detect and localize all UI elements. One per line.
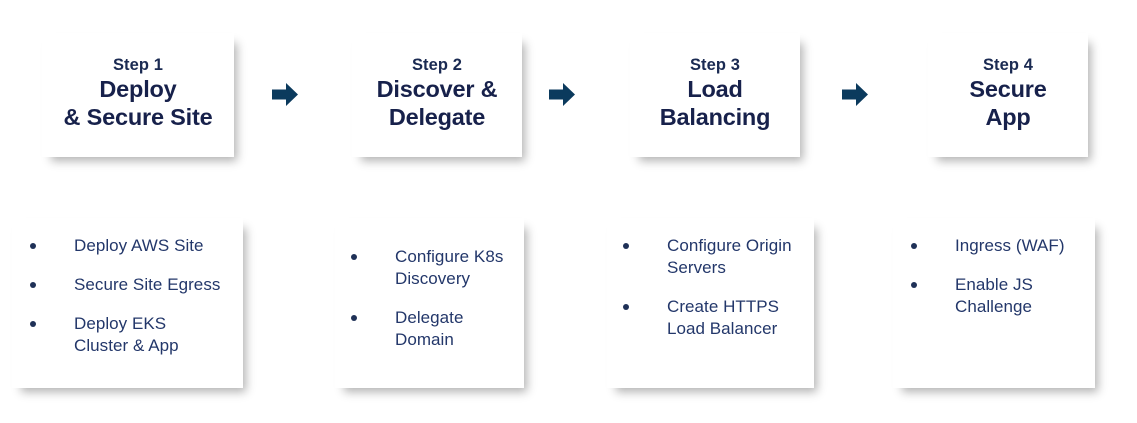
step-label-2: Step 2 — [412, 55, 462, 75]
step-title-3: Load Balancing — [660, 76, 771, 131]
bullet-panel-1: Deploy AWS Site Secure Site Egress Deplo… — [12, 218, 243, 388]
list-item: Configure Origin Servers — [623, 235, 802, 279]
bullet-text: Secure Site Egress — [74, 274, 220, 296]
step-label-3: Step 3 — [690, 55, 740, 75]
step-card-1[interactable]: Step 1 Deploy & Secure Site — [42, 33, 234, 157]
list-item: Ingress (WAF) — [911, 235, 1083, 257]
bullet-dot-icon — [30, 321, 36, 327]
bullet-dot-icon — [30, 243, 36, 249]
step-label-1: Step 1 — [113, 55, 163, 75]
list-item: Delegate Domain — [351, 307, 512, 351]
bullet-list-3: Configure Origin Servers Create HTTPS Lo… — [623, 235, 802, 340]
bullet-text: Configure K8s Discovery — [395, 246, 503, 290]
step-title-1: Deploy & Secure Site — [64, 76, 213, 131]
step-card-4[interactable]: Step 4 Secure App — [928, 33, 1088, 157]
bullet-dot-icon — [351, 315, 357, 321]
bullet-dot-icon — [911, 243, 917, 249]
list-item: Enable JS Challenge — [911, 274, 1083, 318]
step-label-4: Step 4 — [983, 55, 1033, 75]
bullet-text: Ingress (WAF) — [955, 235, 1065, 257]
bullet-panel-2: Configure K8s Discovery Delegate Domain — [335, 218, 524, 388]
bullet-list-1: Deploy AWS Site Secure Site Egress Deplo… — [30, 235, 229, 357]
bullet-text: Deploy EKS Cluster & App — [74, 313, 179, 357]
arrow-step2-to-step3 — [549, 82, 575, 107]
arrow-step3-to-step4 — [842, 82, 868, 107]
bullet-text: Create HTTPS Load Balancer — [667, 296, 779, 340]
step-title-2: Discover & Delegate — [377, 76, 498, 131]
list-item: Secure Site Egress — [30, 274, 229, 296]
bullet-list-2: Configure K8s Discovery Delegate Domain — [351, 246, 512, 351]
bullet-dot-icon — [30, 282, 36, 288]
list-item: Create HTTPS Load Balancer — [623, 296, 802, 340]
step-title-4: Secure App — [969, 76, 1046, 131]
bullet-list-4: Ingress (WAF) Enable JS Challenge — [911, 235, 1083, 318]
bullet-dot-icon — [623, 243, 629, 249]
list-item: Deploy EKS Cluster & App — [30, 313, 229, 357]
list-item: Deploy AWS Site — [30, 235, 229, 257]
bullet-text: Configure Origin Servers — [667, 235, 792, 279]
bullet-text: Delegate Domain — [395, 307, 463, 351]
bullet-panel-3: Configure Origin Servers Create HTTPS Lo… — [607, 218, 814, 388]
bullet-panel-4: Ingress (WAF) Enable JS Challenge — [893, 218, 1095, 388]
bullet-dot-icon — [351, 254, 357, 260]
bullet-dot-icon — [623, 304, 629, 310]
diagram-canvas: Step 1 Deploy & Secure Site Deploy AWS S… — [0, 0, 1137, 423]
bullet-text: Deploy AWS Site — [74, 235, 204, 257]
list-item: Configure K8s Discovery — [351, 246, 512, 290]
step-card-2[interactable]: Step 2 Discover & Delegate — [352, 33, 522, 157]
arrow-step1-to-step2 — [272, 82, 298, 107]
bullet-dot-icon — [911, 282, 917, 288]
step-card-3[interactable]: Step 3 Load Balancing — [630, 33, 800, 157]
bullet-text: Enable JS Challenge — [955, 274, 1033, 318]
